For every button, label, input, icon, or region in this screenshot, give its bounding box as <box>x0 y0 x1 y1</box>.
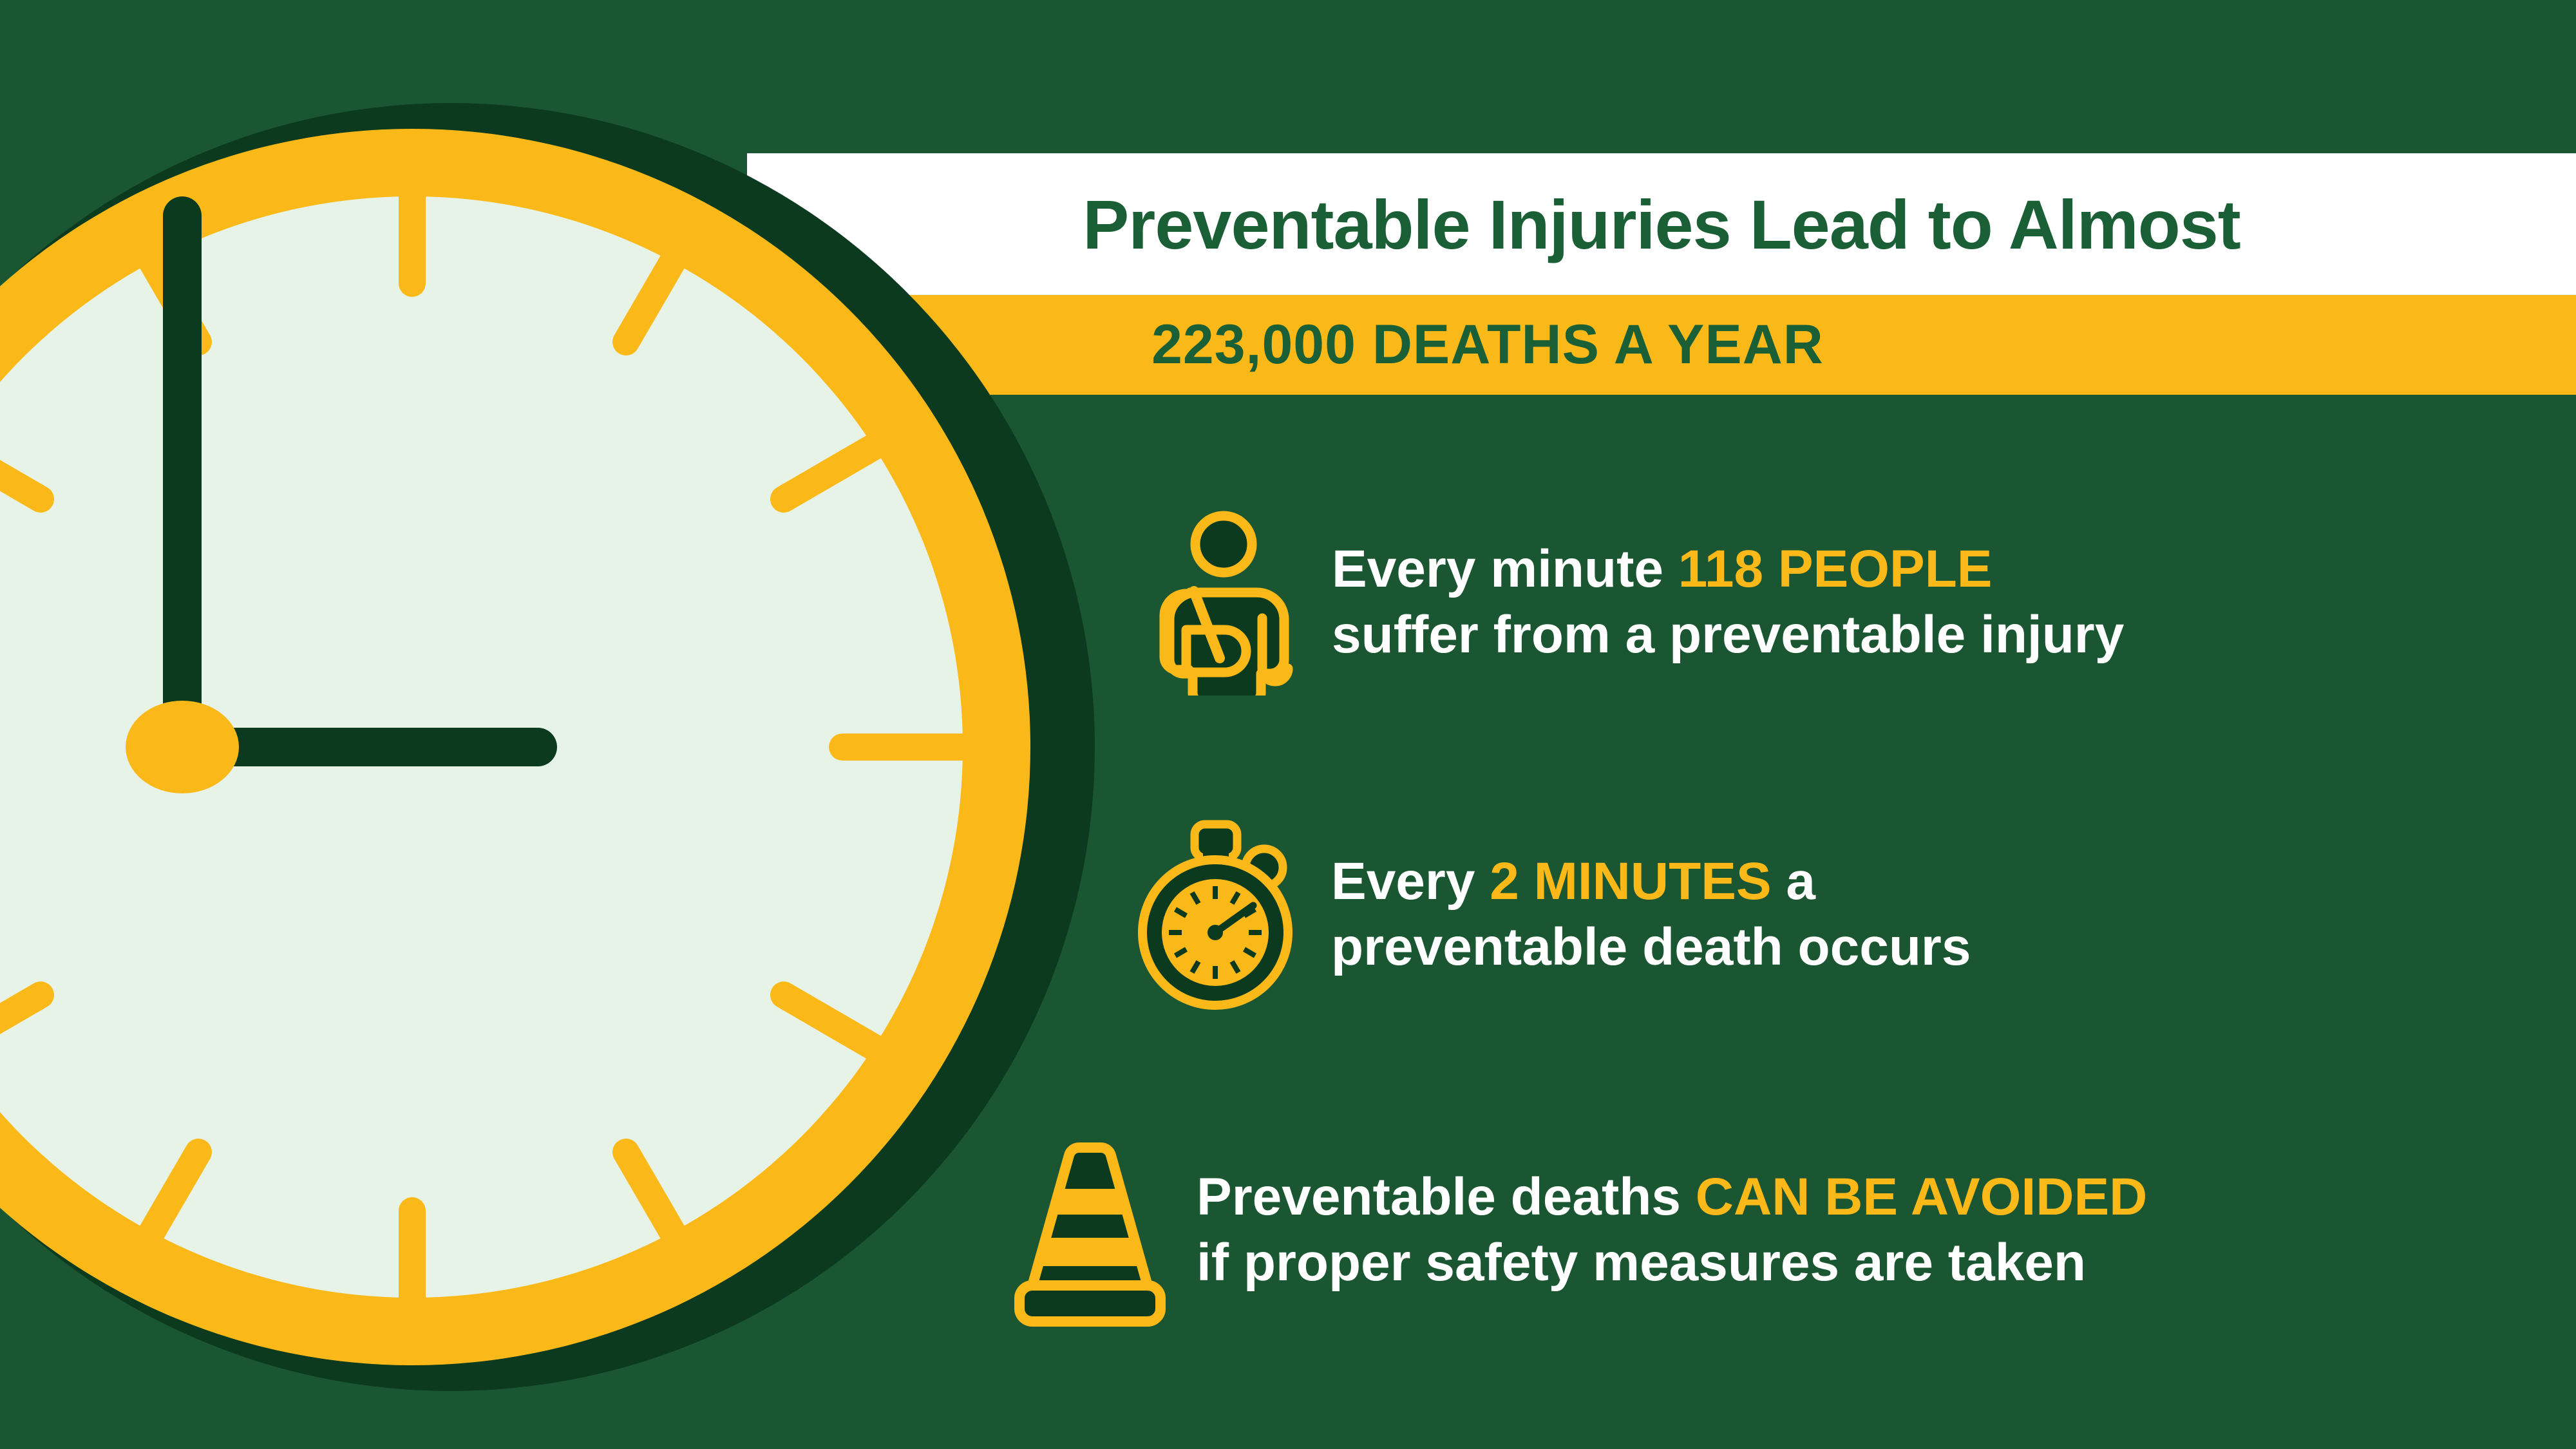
page-title: Preventable Injuries Lead to Almost <box>747 153 2576 295</box>
person-arm-sling-icon <box>1153 509 1301 696</box>
stat-2-line1-prefix: Every <box>1331 852 1490 911</box>
stat-1-line2: suffer from a preventable injury <box>1332 602 2124 668</box>
clock-center-hub <box>126 701 239 793</box>
stat-2-line1-suffix: a <box>1772 852 1815 911</box>
stat-text-deaths: Every 2 MINUTES a preventable death occu… <box>1331 849 1971 980</box>
stat-text-prevention: Preventable deaths CAN BE AVOIDED if pro… <box>1197 1164 2147 1295</box>
stat-2-line2: preventable death occurs <box>1331 914 1971 980</box>
stat-3-highlight: CAN BE AVOIDED <box>1696 1168 2148 1226</box>
stat-row-deaths: Every 2 MINUTES a preventable death occu… <box>1133 818 1971 1011</box>
stopwatch-icon <box>1133 818 1298 1011</box>
stat-text-injuries: Every minute 118 PEOPLE suffer from a pr… <box>1332 536 2124 667</box>
traffic-cone-icon <box>1014 1133 1166 1327</box>
infographic-canvas: Preventable Injuries Lead to Almost 223,… <box>0 0 2576 1449</box>
stat-3-line1-prefix: Preventable deaths <box>1197 1168 1696 1226</box>
stat-1-highlight: 118 PEOPLE <box>1678 540 1993 598</box>
stat-row-injuries: Every minute 118 PEOPLE suffer from a pr… <box>1153 509 2124 696</box>
stat-row-prevention: Preventable deaths CAN BE AVOIDED if pro… <box>1014 1133 2147 1327</box>
stat-3-line2: if proper safety measures are taken <box>1197 1230 2147 1296</box>
stat-1-line1-prefix: Every minute <box>1332 540 1678 598</box>
stat-2-highlight: 2 MINUTES <box>1490 852 1771 911</box>
page-subtitle: 223,000 DEATHS A YEAR <box>747 295 2228 395</box>
